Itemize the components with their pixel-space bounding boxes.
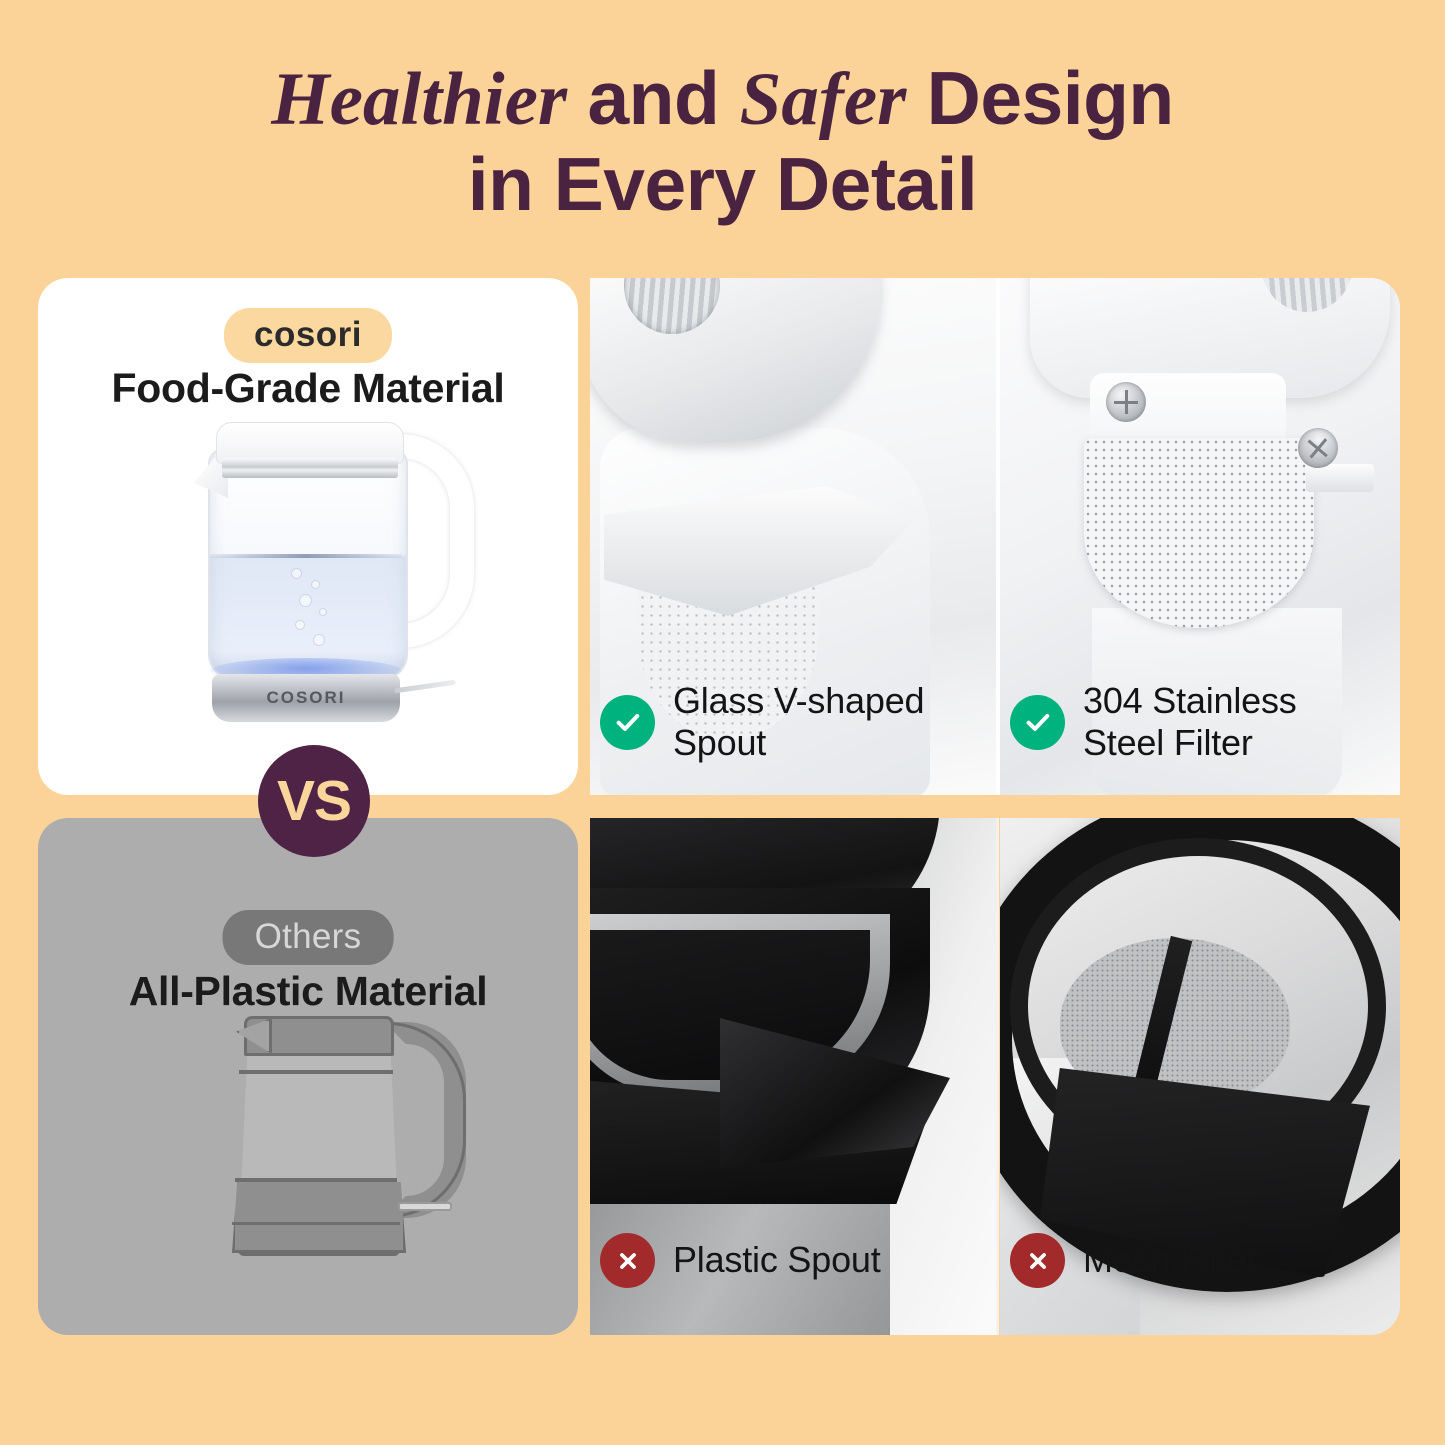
photo-steel-mesh — [1084, 438, 1314, 628]
feature-label: Mesh Filter — [1083, 1239, 1259, 1281]
others-material-title: All-Plastic Material — [38, 968, 578, 1015]
gray-kettle-band-mid — [235, 1178, 397, 1182]
headline-emphasis-healthier: Healthier — [271, 58, 567, 141]
headline-emphasis-safer: Safer — [740, 58, 907, 141]
headline-line-2: in Every Detail — [0, 142, 1445, 226]
brand-badge-others: Others — [223, 910, 394, 965]
cross-icon — [1010, 1233, 1065, 1288]
feature-label: 304 Stainless Steel Filter — [1083, 680, 1297, 764]
panel-others-product: Others All-Plastic Material — [38, 818, 578, 1335]
brand-badge-cosori: cosori — [224, 308, 392, 363]
feature-plastic-spout: Plastic Spout — [600, 1233, 881, 1288]
headline-line-1: Healthier and Safer Design — [0, 56, 1445, 142]
kettle-steel-base: COSORI — [212, 674, 400, 722]
others-kettle-illustration — [208, 1016, 468, 1276]
kettle-steel-collar — [222, 458, 398, 478]
photo-screw-icon — [1106, 382, 1146, 422]
gray-kettle-base-band — [232, 1182, 406, 1253]
feature-mesh-filter: Mesh Filter — [1010, 1233, 1259, 1288]
panel-cosori-product: cosori Food-Grade Material — [38, 278, 578, 795]
kettle-water-line — [210, 554, 402, 558]
check-icon — [1010, 695, 1065, 750]
infographic-root: Healthier and Safer Design in Every Deta… — [0, 0, 1445, 1445]
kettle-bubbles — [281, 564, 341, 650]
panel-divider — [996, 278, 1000, 795]
gray-kettle-power-cord — [398, 1202, 452, 1211]
gray-kettle-band-low — [232, 1222, 400, 1225]
kettle-base-brand-text: COSORI — [266, 688, 345, 708]
versus-badge: VS — [258, 745, 370, 857]
headline-line1-end: Design — [906, 56, 1173, 140]
feature-304-stainless-steel-filter: 304 Stainless Steel Filter — [1010, 680, 1297, 764]
feature-label: Plastic Spout — [673, 1239, 881, 1281]
cosori-material-title: Food-Grade Material — [38, 365, 578, 412]
kettle-power-cord — [394, 680, 456, 694]
gray-kettle-band-top — [239, 1070, 393, 1074]
headline-line1-mid: and — [567, 56, 740, 140]
feature-label: Glass V-shaped Spout — [673, 680, 924, 764]
cross-icon — [600, 1233, 655, 1288]
panel-divider-bottom — [996, 818, 999, 1335]
feature-glass-v-shaped-spout: Glass V-shaped Spout — [600, 680, 924, 764]
comparison-grid: cosori Food-Grade Material — [38, 278, 1400, 1335]
page-title: Healthier and Safer Design in Every Deta… — [0, 56, 1445, 226]
cosori-kettle-image: COSORI — [186, 406, 486, 746]
check-icon — [600, 695, 655, 750]
